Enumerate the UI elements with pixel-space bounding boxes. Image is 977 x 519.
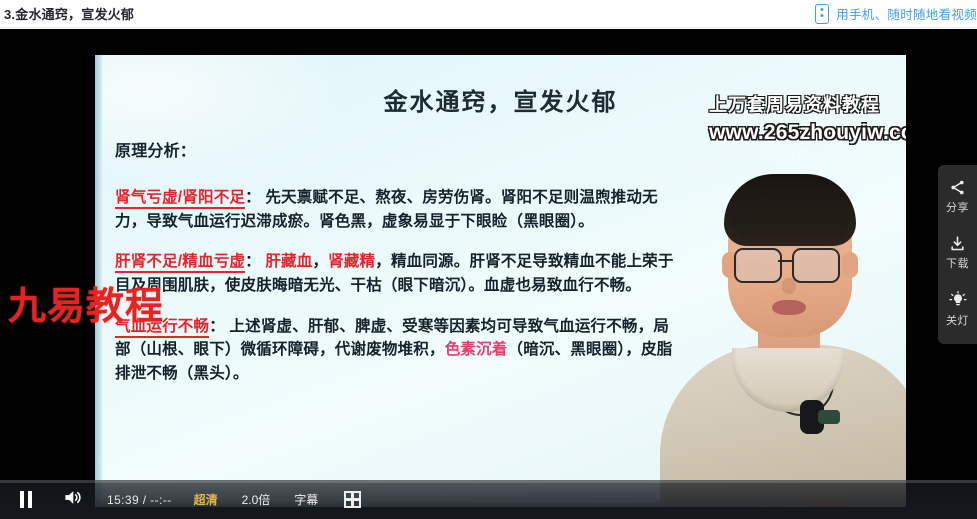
volume-icon xyxy=(62,488,83,512)
pause-icon-bar-left xyxy=(20,491,24,508)
paragraph-3-separator: ： xyxy=(209,318,225,335)
video-player-page: 3.金水通窍，宣发火郁 用手机、随时随地看视频 金水通窍，宣发火郁 原理分析： … xyxy=(0,0,977,519)
presenter-collar xyxy=(732,348,844,412)
presenter-neck xyxy=(758,310,820,380)
phone-icon xyxy=(815,4,829,24)
subtitle-toggle[interactable]: 字幕 xyxy=(294,491,318,508)
side-tool-panel: 分享 下载 xyxy=(938,165,977,344)
presenter-figure xyxy=(640,160,906,507)
download-label: 下载 xyxy=(946,255,969,271)
paragraph-1-separator: ： xyxy=(245,189,261,206)
presenter-glasses-bridge xyxy=(778,260,792,262)
video-stage[interactable]: 金水通窍，宣发火郁 原理分析： 肾气亏虚/肾阳不足： 先天禀赋不足、熬夜、房劳伤… xyxy=(0,29,977,519)
download-icon xyxy=(949,235,966,252)
paragraph-1-keyword: 肾气亏虚/肾阳不足 xyxy=(115,189,245,209)
page-header: 3.金水通窍，宣发火郁 用手机、随时随地看视频 xyxy=(0,0,977,28)
slide-paragraph-3: 气血运行不畅： 上述肾虚、肝郁、脾虚、受寒等因素均可导致气血运行不畅，局部（山根… xyxy=(115,315,675,386)
slide-paragraph-2: 肝肾不足/精血亏虚： 肝藏血，肾藏精，精血同源。肝肾不足导致精血不能上荣于目及周… xyxy=(115,250,675,297)
presenter-nose xyxy=(782,278,796,294)
paragraph-2-separator: ： xyxy=(245,253,261,270)
presenter-brow-right xyxy=(796,240,832,245)
volume-button[interactable] xyxy=(61,490,83,510)
slide-lead: 原理分析： xyxy=(115,140,675,164)
presenter-lapel-mic xyxy=(800,400,824,434)
slide-edge-left xyxy=(95,55,102,507)
video-frame[interactable]: 金水通窍，宣发火郁 原理分析： 肾气亏虚/肾阳不足： 先天禀赋不足、熬夜、房劳伤… xyxy=(0,29,906,519)
presenter-glasses-left xyxy=(734,248,782,283)
ghost-watermark-line2: 全在这里 xyxy=(758,145,836,163)
paragraph-2-keyword: 肝肾不足/精血亏虚 xyxy=(115,253,245,273)
mobile-promo[interactable]: 用手机、随时随地看视频 xyxy=(815,4,977,24)
presenter-ear-right xyxy=(842,252,858,278)
presenter-mic-cord xyxy=(768,368,834,416)
presenter-head xyxy=(728,182,852,337)
page-title: 3.金水通窍，宣发火郁 xyxy=(4,4,134,23)
slide-body: 原理分析： 肾气亏虚/肾阳不足： 先天禀赋不足、熬夜、房劳伤肾。肾阳不足则温煦推… xyxy=(115,140,675,402)
fullscreen-button[interactable] xyxy=(344,491,361,508)
paragraph-2-inline-red-2: 肾藏精 xyxy=(328,253,375,270)
presentation-slide: 金水通窍，宣发火郁 原理分析： 肾气亏虚/肾阳不足： 先天禀赋不足、熬夜、房劳伤… xyxy=(95,55,906,507)
progress-bar-track[interactable] xyxy=(0,480,977,483)
lightbulb-icon xyxy=(949,291,967,309)
ghost-watermark-line1: 永程旺宅风水 xyxy=(758,127,836,145)
time-display: 15:39 / --:-- xyxy=(107,493,172,507)
ghost-watermark: 永程旺宅风水 全在这里 xyxy=(758,127,836,163)
lights-off-label: 关灯 xyxy=(946,312,969,328)
presenter-ear-left xyxy=(722,252,738,278)
playback-speed-selector[interactable]: 2.0倍 xyxy=(242,491,271,508)
slide-paragraph-1: 肾气亏虚/肾阳不足： 先天禀赋不足、熬夜、房劳伤肾。肾阳不足则温煦推动无力，导致… xyxy=(115,186,675,233)
paragraph-3-inline-pink: 色素沉着 xyxy=(445,341,508,358)
paragraph-2-inline-red-1: 肝藏血 xyxy=(265,253,312,270)
share-label: 分享 xyxy=(946,199,969,215)
player-control-bar: 15:39 / --:-- 超清 2.0倍 字幕 xyxy=(0,480,977,519)
download-button[interactable]: 下载 xyxy=(946,235,969,271)
paragraph-2-mid: ， xyxy=(312,253,328,270)
paragraph-3-keyword: 气血运行不畅 xyxy=(115,318,209,338)
share-icon xyxy=(949,179,966,196)
presenter-glasses-right xyxy=(792,248,840,283)
presenter-brow-left xyxy=(738,240,774,245)
slide-title: 金水通窍，宣发火郁 xyxy=(95,82,906,117)
mobile-promo-label: 用手机、随时随地看视频 xyxy=(836,4,977,23)
fullscreen-icon-corner-br xyxy=(351,498,361,508)
presenter-hair xyxy=(724,174,856,246)
quality-selector[interactable]: 超清 xyxy=(194,491,218,508)
lights-off-button[interactable]: 关灯 xyxy=(946,291,969,328)
pause-button[interactable] xyxy=(17,490,35,509)
share-button[interactable]: 分享 xyxy=(946,179,969,215)
presenter-mouth xyxy=(772,300,806,315)
pause-icon-bar-right xyxy=(28,491,32,508)
